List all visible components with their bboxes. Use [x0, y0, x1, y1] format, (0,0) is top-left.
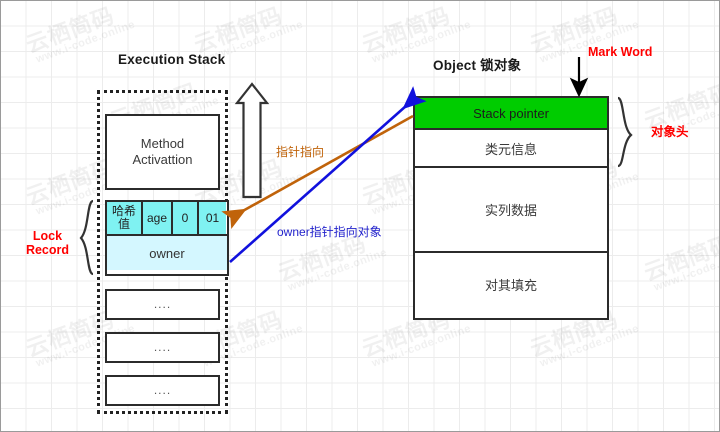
orange-pointer-arrow — [232, 116, 413, 217]
blue-arrow-label: owner指针指向对象 — [277, 223, 382, 240]
stack-growth-arrow-icon — [237, 84, 267, 197]
object-header-brace-icon — [618, 98, 631, 166]
lock-record-label-line1: Lock — [33, 229, 62, 243]
stack-frame-method-activation: Method Activattion — [105, 114, 220, 190]
object-row-padding: 对其填充 — [415, 253, 607, 317]
object-header-label: 对象头 — [651, 125, 689, 139]
watermark: 云栖简码www.i-code.online — [641, 226, 720, 296]
orange-arrow-label: 指针指向 — [276, 143, 324, 160]
lock-record-brace-icon — [81, 201, 93, 274]
object-row-mark-word: Stack pointer — [415, 98, 607, 130]
method-line-1: Method — [141, 136, 184, 151]
diagram-canvas: 云栖简码www.i-code.online 云栖简码www.i-code.onl… — [0, 0, 720, 432]
lr-cell-biased: 0 — [173, 202, 199, 234]
object-box: Stack pointer 类元信息 实列数据 对其填充 — [413, 96, 609, 320]
stack-frame-placeholder: .... — [105, 289, 220, 320]
stack-frame-placeholder: .... — [105, 375, 220, 406]
object-title: Object 锁对象 — [433, 54, 521, 74]
execution-stack-title: Execution Stack — [118, 52, 225, 67]
lr-owner-row: owner — [107, 236, 227, 270]
lock-record-label: Lock Record — [20, 229, 75, 258]
stack-frame-placeholder: .... — [105, 332, 220, 363]
lock-record-label-line2: Record — [26, 243, 69, 257]
lr-cell-age: age — [143, 202, 173, 234]
object-row-class-metadata: 类元信息 — [415, 130, 607, 168]
lr-cell-lockflag: 01 — [199, 202, 226, 234]
mark-word-copy-row: 哈希值 age 0 01 — [107, 202, 227, 236]
lock-record-block: 哈希值 age 0 01 owner — [105, 200, 229, 276]
lr-cell-hash: 哈希值 — [107, 202, 143, 234]
mark-word-label: Mark Word — [588, 45, 652, 59]
object-row-instance-data: 实列数据 — [415, 168, 607, 253]
method-line-2: Activattion — [133, 152, 193, 167]
